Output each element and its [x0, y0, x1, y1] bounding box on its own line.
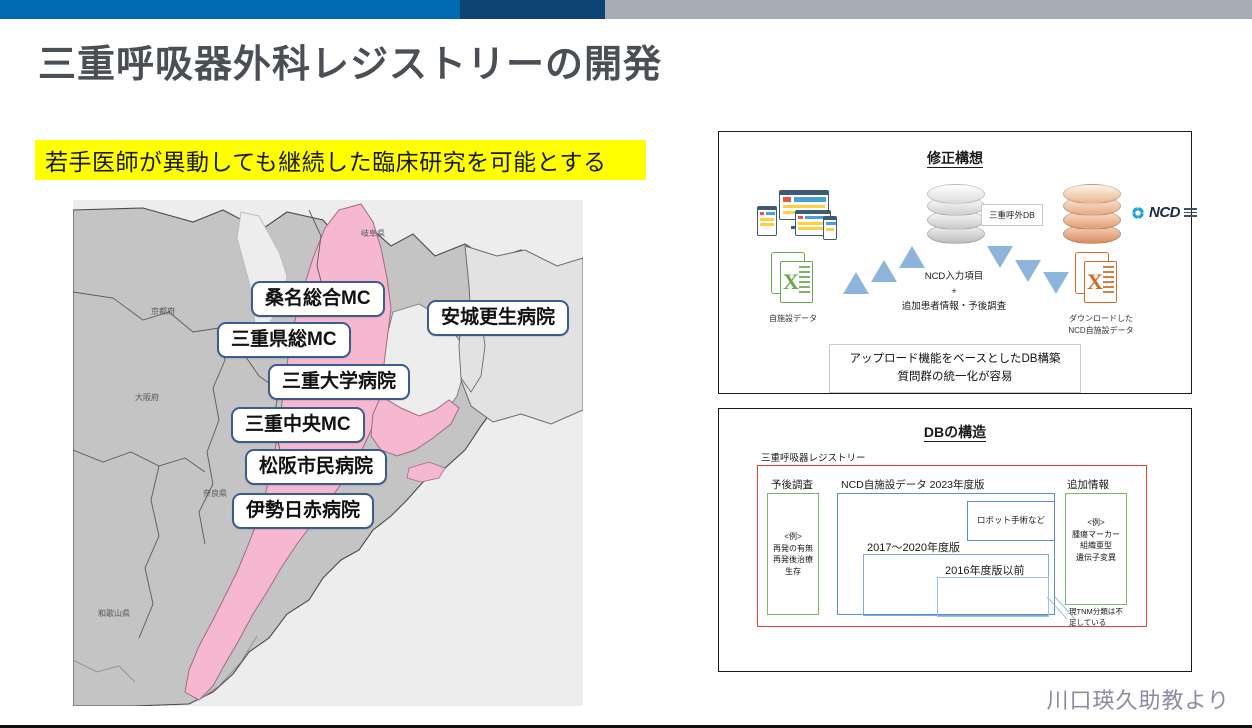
- page-title: 三重呼吸器外科レジストリーの開発: [38, 33, 662, 88]
- pref-label-wakayama: 和歌山県: [98, 608, 130, 619]
- map-callout-anjo-kosei-hospital[interactable]: 安城更生病院: [427, 300, 569, 336]
- tnm-note-line2: 足している: [1069, 618, 1106, 629]
- upload-feature-summary-box: アップロード機能をベースとしたDB構築 質問群の統一化が容易: [829, 344, 1081, 393]
- additional-info-header: 追加情報: [1067, 477, 1109, 492]
- accent-segment-gray: [605, 0, 1252, 19]
- arrow-up-left-3: [899, 246, 925, 268]
- self-facility-data-caption: 自施設データ: [747, 314, 839, 325]
- registry-caption: 三重呼吸器レジストリー: [761, 450, 866, 464]
- highlight-statement-text: 若手医師が異動しても継続した臨床研究を可能とする: [45, 143, 606, 177]
- ncd-input-items-note: NCD入力項目: [874, 269, 1034, 284]
- prognosis-survey-header: 予後調査: [771, 477, 813, 492]
- arrow-down-right-1: [987, 246, 1013, 268]
- db-tag-label: 三重呼外DB: [981, 204, 1043, 226]
- highlight-statement: 若手医師が異動しても継続した臨床研究を可能とする: [35, 140, 646, 180]
- region-map: 岐阜県 京都府 大阪府 奈良県 和歌山県 桑名総合MC 安城更生病院 三重県総M…: [73, 200, 583, 706]
- summary-line-1: アップロード機能をベースとしたDB構築: [840, 350, 1070, 368]
- pref-label-nara: 奈良県: [203, 488, 227, 499]
- ncd-logo-text: NCD: [1149, 204, 1180, 221]
- excel-doc-orange-icon: X: [1075, 252, 1119, 304]
- excel-doc-green-icon: X: [771, 252, 815, 304]
- map-callout-ise-nisseki-hospital[interactable]: 伊勢日赤病院: [232, 493, 374, 529]
- pref-label-osaka: 大阪府: [135, 392, 159, 403]
- panel-revised-concept: 修正構想: [718, 131, 1192, 394]
- period-2017-2020-label: 2017～2020年度版: [867, 539, 960, 555]
- ncd-db-cylinder: [1063, 184, 1121, 246]
- credit-attribution: 川口瑛久助教より: [1046, 683, 1230, 715]
- downloaded-ncd-caption-line2: NCD自施設データ: [1041, 326, 1161, 337]
- ncd-facility-data-header: NCD自施設データ 2023年度版: [841, 477, 985, 492]
- summary-line-2: 質問群の統一化が容易: [840, 368, 1070, 386]
- arrow-up-left-1: [843, 272, 869, 294]
- pref-label-kyoto: 京都府: [151, 306, 175, 317]
- accent-segment-blue: [0, 0, 460, 19]
- ncd-logo-rules: [1184, 208, 1197, 217]
- map-callout-matsusaka-municipal-hospital[interactable]: 松阪市民病院: [245, 449, 387, 485]
- panel-db-structure-title: DBの構造: [719, 422, 1191, 442]
- slide-canvas: 三重呼吸器外科レジストリーの開発 若手医師が異動しても継続した臨床研究を可能とす…: [0, 0, 1252, 728]
- prognosis-survey-example: <例> 再発の有無 再発後治療 生存: [767, 531, 819, 577]
- panel-db-structure: DBの構造 三重呼吸器レジストリー 予後調査 NCD自施設データ 2023年度版…: [718, 408, 1192, 672]
- mie-respiratory-db-cylinder: [927, 184, 985, 246]
- gear-icon: [1131, 206, 1145, 220]
- additional-info-example: <例> 腫瘍マーカー 組織亜型 遺伝子変異: [1065, 517, 1127, 563]
- accent-segment-dark-blue: [460, 0, 605, 19]
- additional-patient-info-note: 追加患者情報・予後調査: [864, 299, 1044, 314]
- arrow-down-right-3: [1043, 272, 1069, 294]
- tnm-note-line1: 現TNM分類は不: [1069, 607, 1123, 618]
- ncd-logo: NCD: [1131, 204, 1197, 221]
- plus-sign-note: +: [874, 284, 1034, 299]
- map-callout-kuwana-general-mc[interactable]: 桑名総合MC: [251, 281, 385, 317]
- panel-revised-concept-title: 修正構想: [719, 148, 1191, 168]
- period-2016-box: [937, 577, 1049, 617]
- map-callout-mie-kensou-mc[interactable]: 三重県総MC: [217, 322, 351, 358]
- downloaded-ncd-caption-line1: ダウンロードした: [1041, 314, 1161, 325]
- pref-label-gifu: 岐阜県: [361, 228, 385, 239]
- map-callout-mie-university-hospital[interactable]: 三重大学病院: [268, 364, 410, 400]
- devices-icon: [757, 190, 839, 240]
- robot-surgery-label: ロボット手術など: [967, 514, 1055, 526]
- period-2016-label: 2016年度版以前: [945, 562, 1024, 578]
- map-callout-mie-chuo-mc[interactable]: 三重中央MC: [231, 407, 365, 443]
- top-accent-bar: [0, 0, 1252, 19]
